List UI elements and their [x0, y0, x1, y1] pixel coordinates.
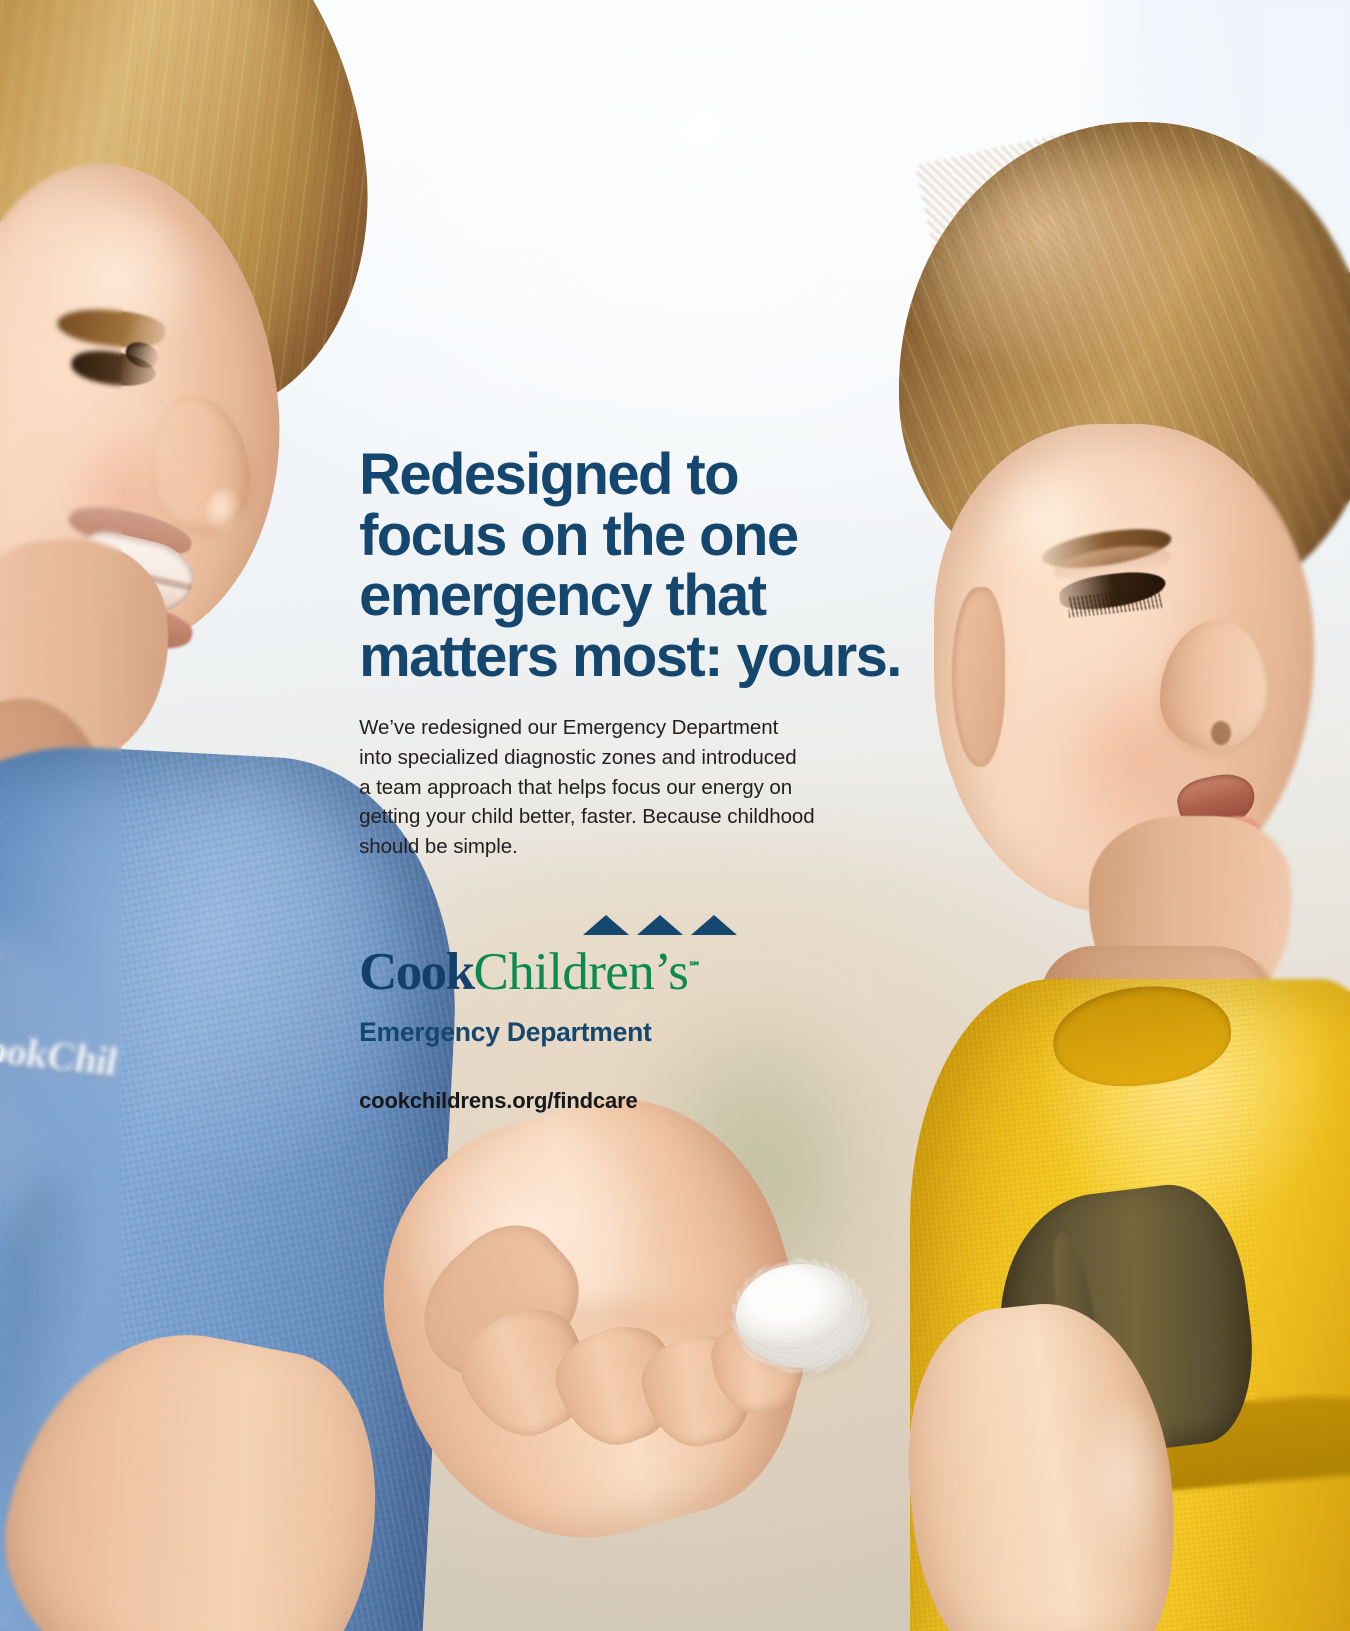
body-line-1: We’ve redesigned our Emergency Departmen…	[359, 713, 953, 743]
logo-trademark-mark: ℠	[688, 959, 701, 974]
triangle-icon-3	[691, 915, 737, 935]
nurse-nose-highlight	[207, 489, 241, 535]
cotton-ball-fuzz	[732, 1259, 870, 1373]
cook-childrens-logo: CookChildren’s℠	[359, 918, 953, 999]
department-label: Emergency Department	[359, 1017, 953, 1048]
logo-word-cook: Cook	[359, 943, 473, 1001]
child-ear	[952, 587, 1005, 766]
headline-line-1: Redesigned to	[359, 445, 953, 506]
logo-word-childrens: Children’s	[473, 943, 688, 1001]
headline-line-2: focus on the one	[359, 506, 953, 567]
logo-triangles	[583, 915, 737, 935]
body-line-3: a team approach that helps focus our ene…	[359, 773, 953, 803]
body-line-5: should be simple.	[359, 832, 953, 862]
page-title: Redesigned to focus on the one emergency…	[359, 445, 953, 687]
advertisement-copy-block: Redesigned to focus on the one emergency…	[359, 445, 953, 1114]
body-line-2: into specialized diagnostic zones and in…	[359, 743, 953, 773]
website-url[interactable]: cookchildrens.org/findcare	[359, 1088, 953, 1114]
child-elbow-highlight	[1077, 1403, 1172, 1566]
triangle-icon-2	[637, 915, 683, 935]
headline-line-4: matters most: yours.	[359, 627, 953, 688]
headline-line-3: emergency that	[359, 566, 953, 627]
triangle-icon-1	[583, 915, 629, 935]
body-line-4: getting your child better, faster. Becau…	[359, 802, 953, 832]
body-copy: We’ve redesigned our Emergency Departmen…	[359, 713, 953, 863]
advertisement-poster: ookChil	[0, 0, 1350, 1631]
